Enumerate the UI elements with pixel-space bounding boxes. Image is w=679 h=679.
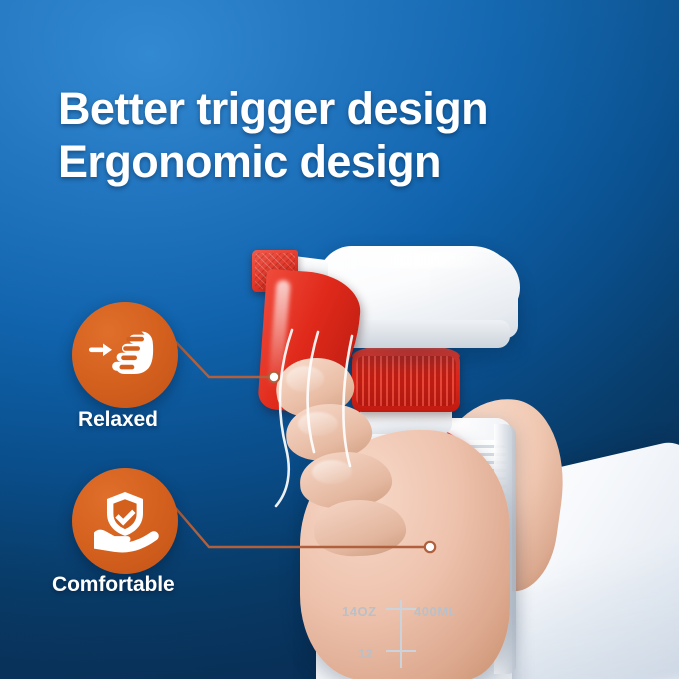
marketing-image: 14OZ 400ML 12 (0, 0, 679, 679)
fingernail-middle (298, 412, 338, 436)
fingernail-index (286, 366, 324, 392)
measure-tick-vertical (400, 600, 402, 668)
relaxed-badge (72, 302, 178, 408)
comfortable-badge (72, 468, 178, 574)
measure-ounces-label: 14OZ (342, 604, 377, 619)
sprayer-head-highlight (330, 252, 500, 268)
comfortable-label: Comfortable (52, 573, 175, 597)
measure-milliliters-label: 400ML (414, 604, 457, 619)
bottle-measurement-marks: 14OZ 400ML 12 (330, 596, 506, 670)
relaxed-label: Relaxed (78, 408, 158, 432)
pointing-hand-arrow-icon (87, 324, 163, 386)
page-title: Better trigger design Ergonomic design (58, 82, 618, 188)
headline-line-1: Better trigger design (58, 83, 488, 134)
hand-holding-shield-check-icon (88, 488, 162, 554)
measure-tick-lower (386, 650, 416, 652)
measure-tick-upper (386, 608, 416, 610)
measure-secondary-label: 12 (358, 646, 373, 661)
headline-line-2: Ergonomic design (58, 135, 618, 188)
fingernail-ring (312, 460, 352, 484)
